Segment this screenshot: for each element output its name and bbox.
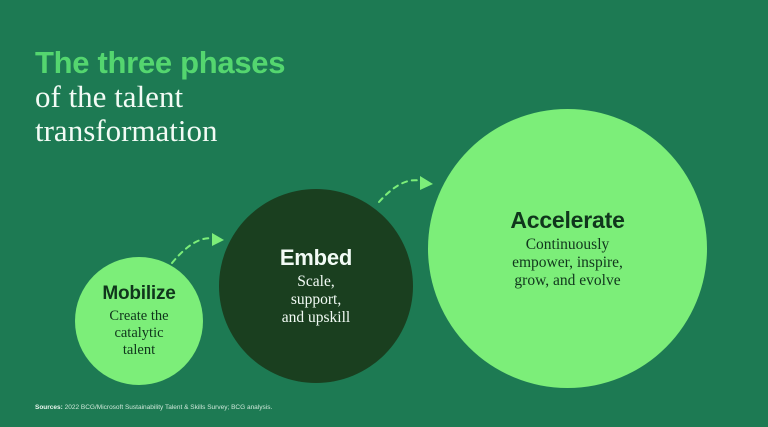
- title-serif-line-1: of the talent: [35, 80, 455, 114]
- slide-canvas: The three phases of the talent transform…: [0, 0, 768, 427]
- phase-heading-mobilize: Mobilize: [102, 283, 175, 305]
- phase-description-line: Scale,: [282, 273, 350, 291]
- phase-description-line: grow, and evolve: [512, 272, 623, 290]
- arrow-embed-to-accelerate-icon: [379, 176, 433, 202]
- phase-circle-accelerate[interactable]: Accelerate Continuously empower, inspire…: [428, 109, 707, 388]
- phase-description-line: support,: [282, 291, 350, 309]
- phase-description-line: Continuously: [512, 236, 623, 254]
- phase-description-line: catalytic: [109, 325, 168, 342]
- phase-description-embed: Scale, support, and upskill: [282, 273, 350, 327]
- title-serif-line-2: transformation: [35, 114, 455, 148]
- phase-description-line: and upskill: [282, 309, 350, 327]
- phase-circle-mobilize[interactable]: Mobilize Create the catalytic talent: [75, 257, 203, 385]
- phase-circle-embed[interactable]: Embed Scale, support, and upskill: [219, 189, 413, 383]
- source-footnote: Sources: 2022 BCG/Microsoft Sustainabili…: [35, 403, 272, 413]
- arrow-mobilize-to-embed-icon: [172, 233, 224, 263]
- source-text: 2022 BCG/Microsoft Sustainability Talent…: [65, 404, 273, 411]
- source-label: Sources:: [35, 404, 63, 411]
- phase-description-line: talent: [109, 342, 168, 359]
- phase-heading-embed: Embed: [280, 245, 352, 270]
- phase-heading-accelerate: Accelerate: [510, 207, 624, 233]
- phase-description-accelerate: Continuously empower, inspire, grow, and…: [512, 236, 623, 290]
- page-title: The three phases of the talent transform…: [35, 46, 455, 148]
- phase-description-line: Create the: [109, 308, 168, 325]
- title-accent-line: The three phases: [35, 46, 455, 80]
- phase-description-line: empower, inspire,: [512, 254, 623, 272]
- phase-description-mobilize: Create the catalytic talent: [109, 308, 168, 359]
